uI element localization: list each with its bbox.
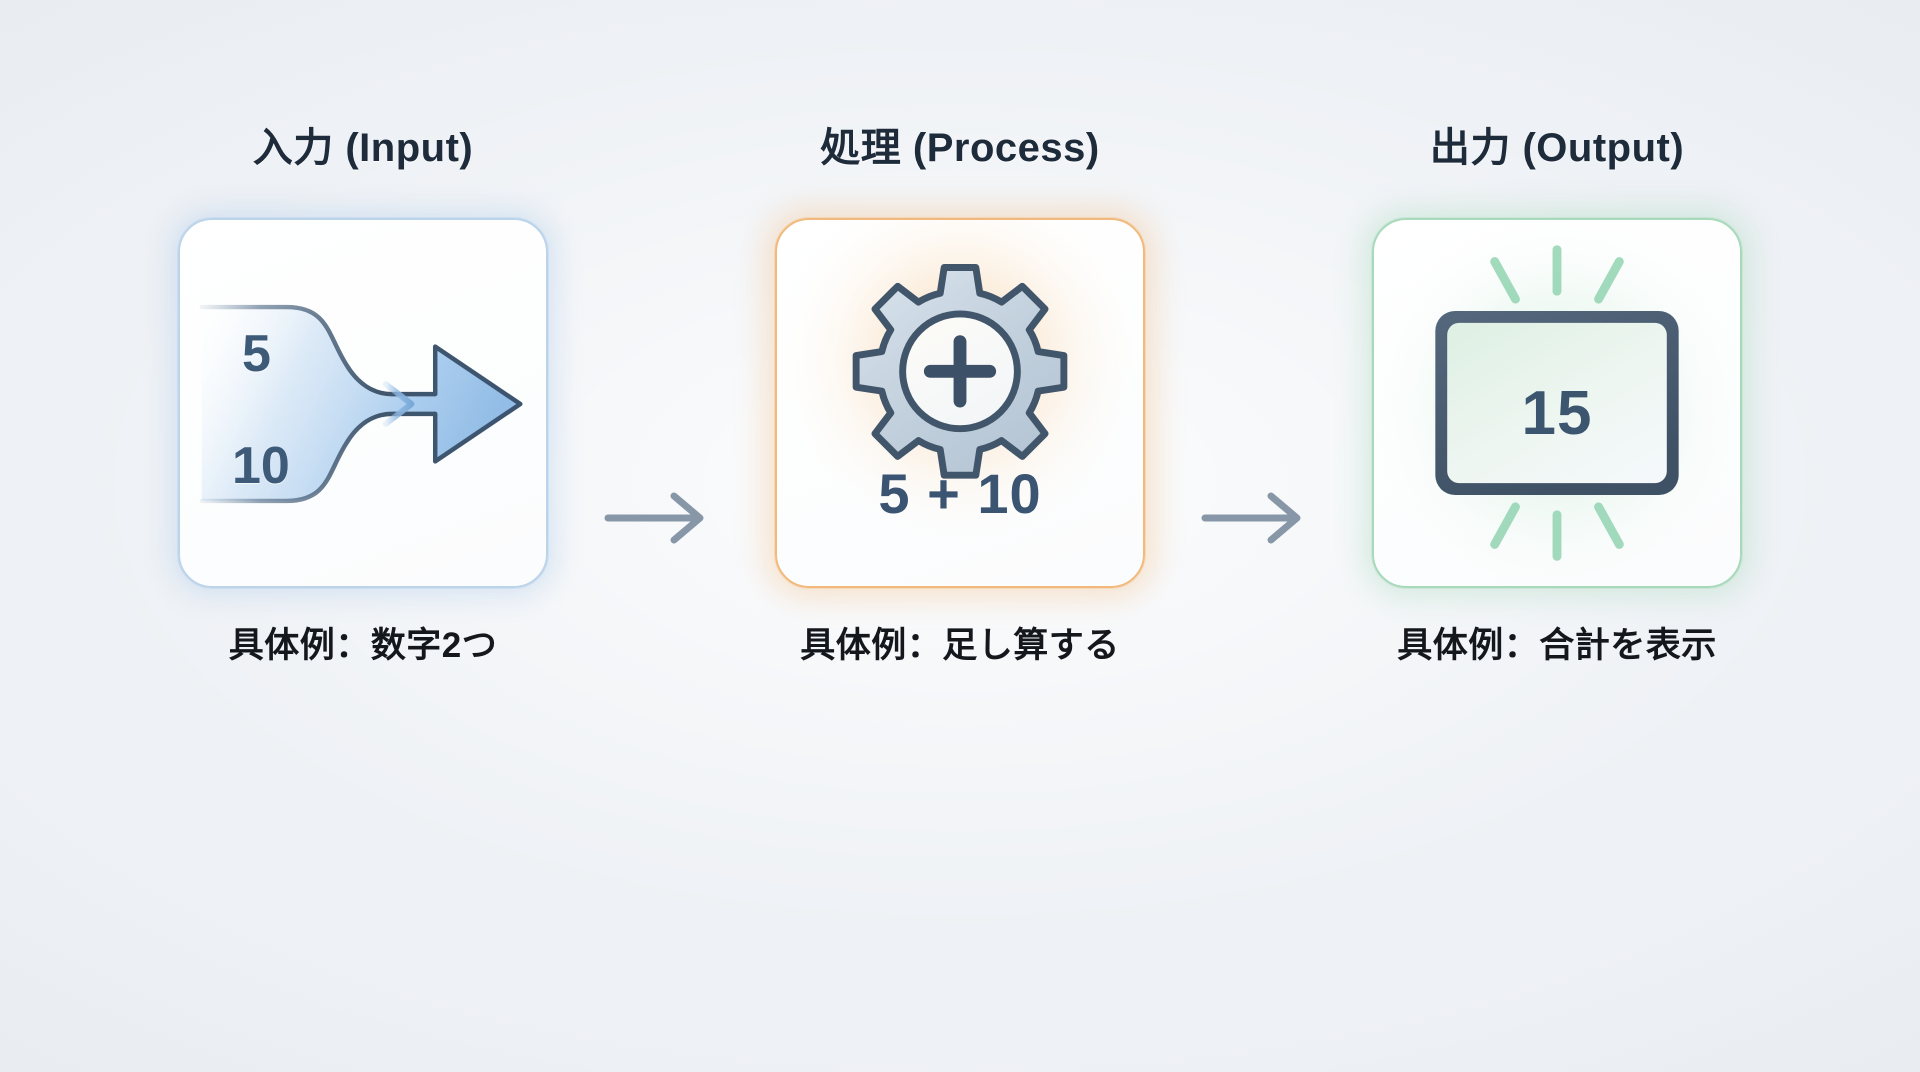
step-title-input: 入力 (Input) [253, 128, 474, 168]
connector-process-to-output [1197, 486, 1317, 550]
input-value-first: 5 [242, 328, 271, 380]
connector-input-to-process [600, 486, 720, 550]
step-caption-process: 具体例：足し算する [800, 628, 1120, 663]
process-expression: 5 + 10 [777, 466, 1143, 522]
step-title-output: 出力 (Output) [1430, 128, 1684, 168]
merge-arrow-icon [180, 220, 546, 586]
step-column-input: 入力 (Input) [128, 128, 598, 663]
step-column-output: 出力 (Output) [1322, 128, 1792, 663]
step-title-process: 処理 (Process) [820, 128, 1099, 168]
input-card[interactable]: 5 10 [178, 218, 548, 588]
process-card[interactable]: 5 + 10 [775, 218, 1145, 588]
step-caption-input: 具体例：数字2つ [229, 628, 497, 663]
output-card[interactable]: 15 [1372, 218, 1742, 588]
arrow-right-icon [600, 486, 720, 550]
step-caption-output: 具体例：合計を表示 [1397, 628, 1717, 663]
input-value-second: 10 [232, 440, 290, 492]
gear-plus-icon [777, 220, 1143, 586]
arrow-right-icon [1197, 486, 1317, 550]
output-result-value: 15 [1374, 383, 1740, 445]
diagram-stage: 入力 (Input) [0, 0, 1920, 1072]
step-column-process: 処理 (Process) [725, 128, 1195, 663]
